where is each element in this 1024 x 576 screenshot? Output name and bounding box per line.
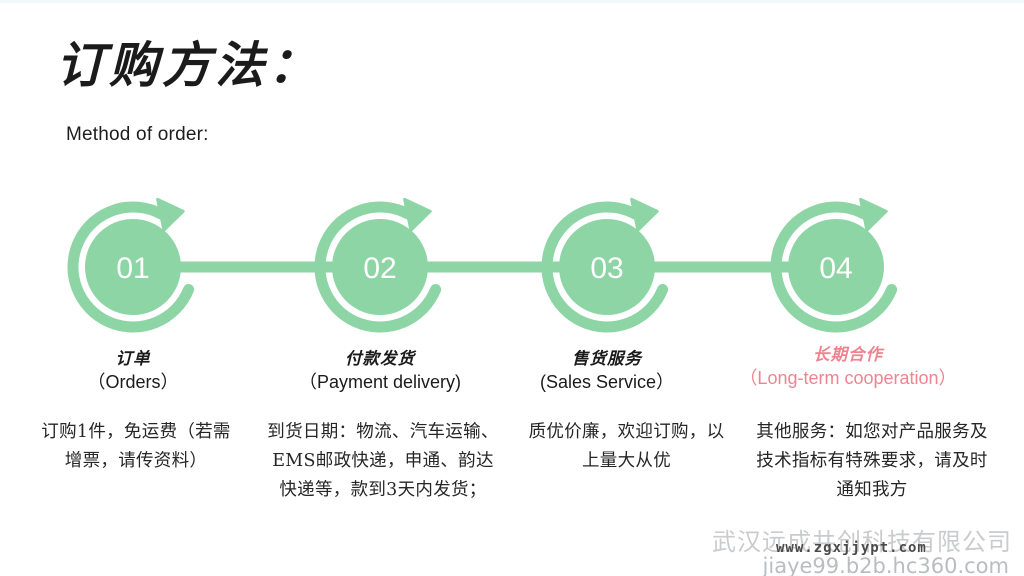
step-body-02: 到货日期：物流、汽车运输、EMS邮政快递，申通、韵达快递等，款到3天内发货； [266, 418, 500, 505]
step-caption-03: 售货服务 (Sales Service） [477, 348, 737, 395]
flow-arrowhead-03 [632, 199, 658, 230]
flow-arrowhead-04 [861, 199, 887, 230]
step-title-cn-01: 订单 [3, 348, 263, 369]
step-title-en-03: (Sales Service） [477, 369, 737, 395]
flow-step-02[interactable]: 02 [320, 199, 436, 327]
flow-arrowhead-02 [405, 199, 431, 230]
flow-step-03[interactable]: 03 [547, 199, 663, 327]
flow-arrowhead-01 [158, 199, 184, 230]
step-title-cn-04: 长期合作 [718, 344, 978, 365]
page-title-chinese: 订购方法： [56, 34, 321, 96]
flow-step-number-03: 03 [590, 252, 623, 285]
top-edge-band [0, 0, 1024, 3]
step-caption-01: 订单 （Orders） [3, 348, 263, 395]
step-title-cn-02: 付款发货 [250, 348, 510, 369]
step-caption-02: 付款发货 （Payment delivery) [250, 348, 510, 395]
step-title-cn-03: 售货服务 [477, 348, 737, 369]
watermark-site: jiaye99.b2b.hc360.com [763, 554, 1009, 576]
step-caption-04: 长期合作 （Long-term cooperation） [718, 344, 978, 391]
step-body-04: 其他服务：如您对产品服务及技术指标有特殊要求，请及时通知我方 [756, 418, 988, 505]
flow-step-number-01: 01 [116, 252, 149, 285]
step-title-en-02: （Payment delivery) [250, 369, 510, 395]
step-title-en-04: （Long-term cooperation） [718, 365, 978, 391]
flow-step-number-02: 02 [363, 252, 396, 285]
step-body-01: 订购1件，免运费（若需增票，请传资料） [36, 418, 236, 476]
flow-step-01[interactable]: 01 [73, 199, 189, 327]
flow-step-04[interactable]: 04 [776, 199, 892, 327]
slide-canvas: 订购方法： Method of order: 01020304 订单 （Orde… [0, 0, 1024, 576]
page-title-english: Method of order: [66, 122, 209, 148]
step-body-03: 质优价廉，欢迎订购，以上量大从优 [524, 418, 729, 476]
step-title-en-01: （Orders） [3, 369, 263, 395]
process-flow-diagram: 01020304 [0, 170, 1024, 370]
flow-step-number-04: 04 [819, 252, 852, 285]
